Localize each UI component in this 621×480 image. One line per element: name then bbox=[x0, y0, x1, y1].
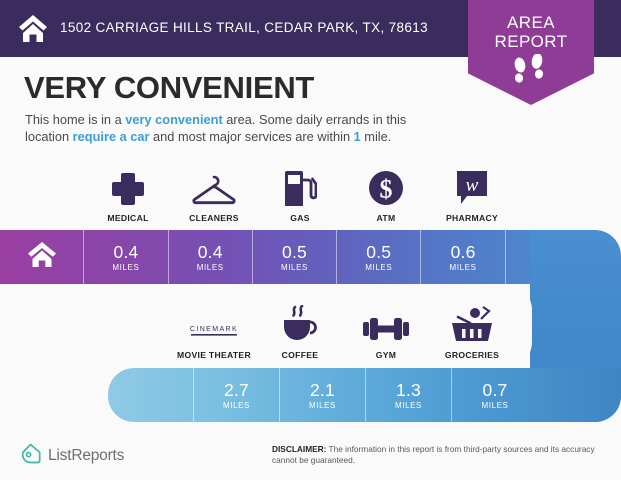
amenity-pharmacy: w PHARMACY bbox=[429, 168, 515, 223]
distance-bar-row-1: 0.4 MILES 0.4 MILES 0.5 MILES 0.5 MILES … bbox=[0, 230, 590, 284]
amenity-groceries: GROCERIES bbox=[429, 305, 515, 360]
distance-cell-coffee: 2.1 MILES bbox=[280, 368, 366, 422]
distance-cell-row2-spacer bbox=[108, 368, 194, 422]
distance-value: 0.5 bbox=[282, 243, 307, 261]
distance-value: 1.3 bbox=[396, 381, 421, 399]
property-address: 1502 CARRIAGE HILLS TRAIL, CEDAR PARK, T… bbox=[60, 20, 428, 35]
amenity-movie-theater: CINEMARK MOVIE THEATER bbox=[171, 305, 257, 360]
distance-value: 0.4 bbox=[113, 243, 138, 261]
distance-unit: MILES bbox=[112, 263, 139, 272]
dollar-circle-icon: $ bbox=[368, 168, 404, 206]
amenity-atm: $ ATM bbox=[343, 168, 429, 223]
clothes-hanger-icon bbox=[191, 168, 237, 206]
walgreens-w-icon: w bbox=[455, 168, 489, 206]
distance-cell-cleaners: 0.4 MILES bbox=[169, 230, 253, 284]
footprints-icon bbox=[511, 54, 551, 93]
amenity-label: ATM bbox=[377, 213, 396, 223]
cinemark-logo-icon: CINEMARK bbox=[185, 305, 243, 343]
distance-unit: MILES bbox=[309, 401, 336, 410]
grocery-basket-icon bbox=[450, 305, 494, 343]
amenity-label: PHARMACY bbox=[446, 213, 498, 223]
distance-cell-movie-theater: 2.7 MILES bbox=[194, 368, 280, 422]
distance-cell-medical: 0.4 MILES bbox=[84, 230, 168, 284]
listreports-house-icon bbox=[20, 443, 41, 469]
distance-value: 0.6 bbox=[451, 243, 476, 261]
amenity-medical: MEDICAL bbox=[85, 168, 171, 223]
distance-unit: MILES bbox=[481, 401, 508, 410]
distance-cell-gas: 0.5 MILES bbox=[253, 230, 337, 284]
distance-unit: MILES bbox=[395, 401, 422, 410]
amenity-label: GROCERIES bbox=[445, 350, 499, 360]
distance-value: 2.7 bbox=[224, 381, 249, 399]
distance-value: 0.7 bbox=[483, 381, 508, 399]
listreports-logo: ListReports bbox=[20, 443, 124, 469]
svg-text:CINEMARK: CINEMARK bbox=[190, 326, 238, 333]
desc-part-1: This home is in a bbox=[25, 112, 125, 127]
area-report-page: 1502 CARRIAGE HILLS TRAIL, CEDAR PARK, T… bbox=[0, 0, 621, 480]
amenity-label: COFFEE bbox=[282, 350, 319, 360]
distance-unit: MILES bbox=[365, 263, 392, 272]
distance-unit: MILES bbox=[197, 263, 224, 272]
disclaimer: DISCLAIMER: The information in this repo… bbox=[272, 444, 602, 466]
desc-highlight-convenience: very convenient bbox=[125, 112, 222, 127]
distance-value: 0.4 bbox=[198, 243, 223, 261]
listreports-wordmark: ListReports bbox=[48, 447, 124, 465]
amenity-label: GYM bbox=[376, 350, 396, 360]
home-icon bbox=[27, 241, 57, 273]
badge-line-1: AREA bbox=[468, 14, 594, 33]
amenity-icon-row-1: MEDICAL CLEANERS GAS bbox=[85, 168, 515, 223]
amenity-label: CLEANERS bbox=[189, 213, 239, 223]
amenity-cleaners: CLEANERS bbox=[171, 168, 257, 223]
distance-value: 0.5 bbox=[366, 243, 391, 261]
area-report-badge: AREA REPORT bbox=[468, 0, 594, 105]
desc-part-3: and most major services are within bbox=[150, 129, 354, 144]
amenity-gas: GAS bbox=[257, 168, 343, 223]
home-marker-cell bbox=[0, 230, 84, 284]
distance-cell-groceries: 0.7 MILES bbox=[452, 368, 538, 422]
amenity-label: GAS bbox=[290, 213, 310, 223]
distance-cell-gym: 1.3 MILES bbox=[366, 368, 452, 422]
badge-title: AREA REPORT bbox=[468, 14, 594, 51]
disclaimer-label: DISCLAIMER: bbox=[272, 444, 326, 454]
distance-cell-atm: 0.5 MILES bbox=[337, 230, 421, 284]
coffee-cup-icon bbox=[280, 305, 320, 343]
distance-unit: MILES bbox=[450, 263, 477, 272]
amenity-gym: GYM bbox=[343, 305, 429, 360]
gas-pump-icon bbox=[283, 168, 317, 206]
distance-unit: MILES bbox=[223, 401, 250, 410]
distance-value: 2.1 bbox=[310, 381, 335, 399]
svg-text:$: $ bbox=[380, 175, 393, 204]
desc-part-4: mile. bbox=[361, 129, 392, 144]
distance-bar-row-2: 2.7 MILES 2.1 MILES 1.3 MILES 0.7 MILES bbox=[108, 368, 621, 422]
amenity-coffee: COFFEE bbox=[257, 305, 343, 360]
amenity-icon-row-2: CINEMARK MOVIE THEATER COFFEE bbox=[171, 305, 515, 360]
desc-highlight-car: require a car bbox=[73, 129, 150, 144]
svg-text:w: w bbox=[466, 175, 479, 196]
amenity-label: MEDICAL bbox=[107, 213, 148, 223]
distance-unit: MILES bbox=[281, 263, 308, 272]
page-description: This home is in a very convenient area. … bbox=[25, 112, 445, 145]
amenity-label: MOVIE THEATER bbox=[177, 350, 251, 360]
home-icon bbox=[18, 14, 48, 43]
page-title: VERY CONVENIENT bbox=[24, 70, 314, 106]
distance-cell-pharmacy: 0.6 MILES bbox=[421, 230, 505, 284]
badge-line-2: REPORT bbox=[468, 33, 594, 52]
medical-cross-icon bbox=[111, 168, 145, 206]
dumbbell-icon bbox=[362, 305, 410, 343]
desc-highlight-miles: 1 bbox=[354, 129, 361, 144]
